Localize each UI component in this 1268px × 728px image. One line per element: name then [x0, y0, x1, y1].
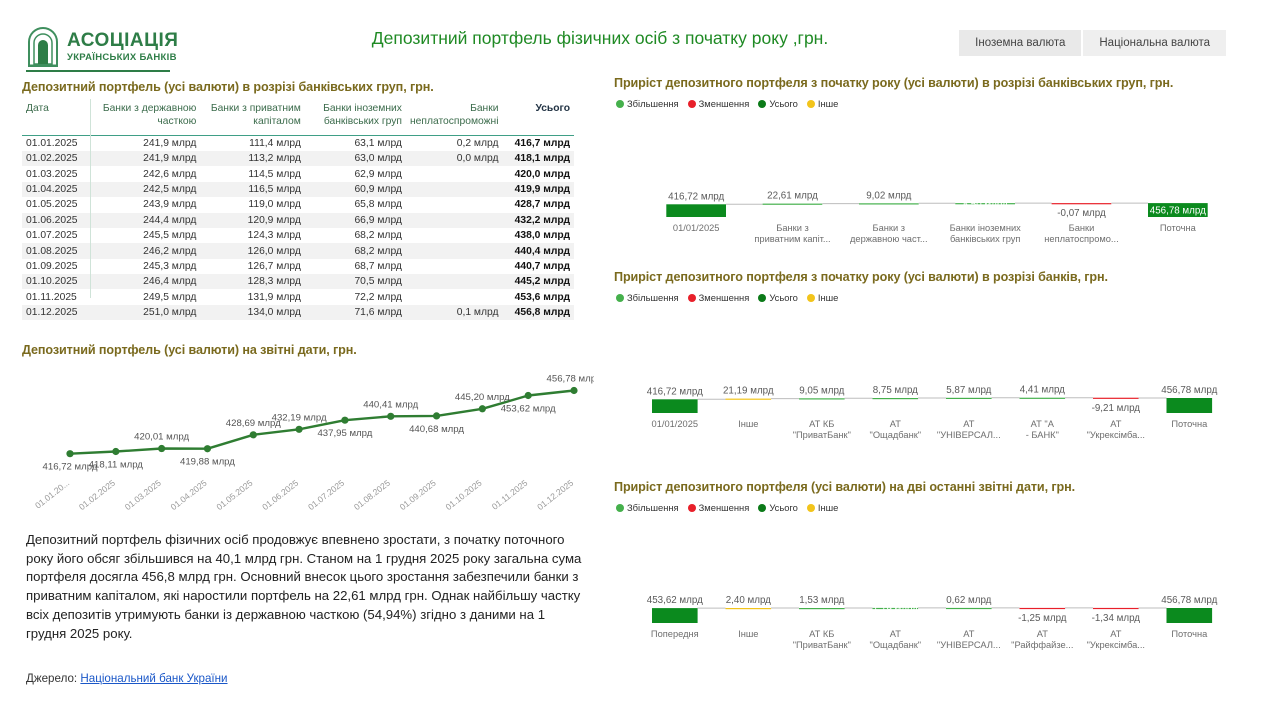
line-point [66, 450, 73, 457]
col-state: Банки з державною часткою [90, 101, 201, 135]
waterfall-bar [946, 608, 992, 609]
table-vertical-separator [90, 99, 91, 298]
waterfall-category-label: АТ [1037, 629, 1048, 639]
table-row: 01.03.2025242,6 млрд114,5 млрд62,9 млрд4… [22, 166, 574, 181]
table-row: 01.05.2025243,9 млрд119,0 млрд65,8 млрд4… [22, 197, 574, 212]
cell-foreign: 70,5 млрд [305, 274, 406, 289]
waterfall-category-label: Банки [1069, 223, 1095, 233]
cell-total: 453,6 млрд [503, 289, 575, 304]
cell-total: 432,2 млрд [503, 213, 575, 228]
cell-total: 428,7 млрд [503, 197, 575, 212]
waterfall-category-label: АТ [1110, 629, 1121, 639]
table-body: 01.01.2025241,9 млрд111,4 млрд63,1 млрд0… [22, 135, 574, 320]
legend-item-other: Інше [807, 98, 839, 109]
waterfall-groups-title: Приріст депозитного портфеля з початку р… [614, 76, 1173, 90]
cell-insolvent [406, 259, 503, 274]
line-x-tick: 01.05.2025 [214, 478, 254, 512]
legend-dot-increase [616, 504, 624, 512]
cell-date: 01.03.2025 [22, 166, 90, 181]
deposit-table: Дата Банки з державною часткою Банки з п… [22, 101, 574, 320]
waterfall-category-label: "ПриватБанк" [793, 640, 851, 650]
cell-state: 244,4 млрд [90, 213, 201, 228]
cell-total: 440,4 млрд [503, 243, 575, 258]
waterfall-category-label: державною част... [850, 234, 928, 244]
col-insolvent: Банки неплатоспроможні [406, 101, 503, 135]
legend-item-decrease: Зменшення [688, 292, 750, 303]
cell-insolvent [406, 289, 503, 304]
waterfall-category-label: "Укрексімба... [1087, 640, 1145, 650]
logo-line2: УКРАЇНСЬКИХ БАНКІВ [67, 53, 178, 63]
table-row: 01.01.2025241,9 млрд111,4 млрд63,1 млрд0… [22, 135, 574, 151]
line-point-label: 432,19 млрд [272, 412, 327, 423]
waterfall-category-label: АТ [963, 629, 974, 639]
legend-label-total: Усього [769, 292, 798, 303]
line-point [570, 387, 577, 394]
waterfall-bar-label: 22,61 млрд [767, 191, 818, 202]
waterfall-banks-ytd-panel: Приріст депозитного портфеля з початку р… [614, 270, 1244, 460]
waterfall-category-label: "Ощадбанк" [870, 640, 922, 650]
line-x-tick: 01.12.2025 [535, 478, 575, 512]
waterfall-bar [859, 203, 919, 204]
legend-item-other: Інше [807, 502, 839, 513]
button-foreign-currency[interactable]: Іноземна валюта [959, 30, 1081, 56]
cell-total: 420,0 млрд [503, 166, 575, 181]
cell-total: 445,2 млрд [503, 274, 575, 289]
cell-foreign: 65,8 млрд [305, 197, 406, 212]
legend-item-total: Усього [758, 98, 798, 109]
cell-insolvent [406, 166, 503, 181]
legend-item-increase: Збільшення [616, 98, 679, 109]
cell-private: 114,5 млрд [200, 166, 304, 181]
waterfall-bar [1093, 608, 1139, 609]
line-point-label: 453,62 млрд [501, 403, 556, 414]
waterfall-category-label: Банки з [873, 223, 906, 233]
cell-private: 134,0 млрд [200, 305, 304, 320]
cell-insolvent [406, 182, 503, 197]
waterfall-category-label: Поточна [1171, 419, 1208, 429]
table-row: 01.04.2025242,5 млрд116,5 млрд60,9 млрд4… [22, 182, 574, 197]
cell-state: 246,4 млрд [90, 274, 201, 289]
waterfall-bar-label: 8,50 млрд [963, 199, 1008, 210]
cell-total: 419,9 млрд [503, 182, 575, 197]
association-logo: АСОЦІАЦІЯ УКРАЇНСЬКИХ БАНКІВ [26, 26, 178, 68]
waterfall-category-label: АТ КБ [809, 629, 834, 639]
line-x-tick: 01.08.2025 [352, 478, 392, 512]
line-point [387, 413, 394, 420]
legend-label-decrease: Зменшення [699, 292, 750, 303]
cell-foreign: 62,9 млрд [305, 166, 406, 181]
table-row: 01.06.2025244,4 млрд120,9 млрд66,9 млрд4… [22, 213, 574, 228]
line-point [112, 448, 119, 455]
waterfall-category-label: Банки іноземних [950, 223, 1022, 233]
logo-underline [26, 70, 170, 72]
line-point-label: 440,41 млрд [363, 399, 418, 410]
waterfall-bar-label: 2,40 млрд [726, 595, 771, 606]
waterfall-category-label: Інше [738, 629, 758, 639]
cell-private: 116,5 млрд [200, 182, 304, 197]
waterfall-bar [1020, 608, 1066, 609]
line-x-tick: 01.11.2025 [490, 478, 530, 512]
legend-label-other: Інше [818, 502, 839, 513]
legend-label-increase: Збільшення [627, 98, 679, 109]
waterfall-bar [726, 399, 772, 400]
line-point [525, 392, 532, 399]
cell-insolvent [406, 243, 503, 258]
waterfall-bar-label: 1,19 млрд [873, 604, 918, 615]
waterfall-bar [1020, 398, 1066, 399]
waterfall-bar [652, 608, 698, 623]
cell-total: 438,0 млрд [503, 228, 575, 243]
line-point [433, 412, 440, 419]
waterfall-category-label: 01/01/2025 [673, 223, 720, 233]
legend-dot-decrease [688, 100, 696, 108]
currency-toggle[interactable]: Іноземна валюта Національна валюта [959, 30, 1226, 56]
source-line: Джерело: Національний банк України [26, 672, 228, 685]
legend-dot-total [758, 294, 766, 302]
waterfall-category-label: приватним капіт... [754, 234, 830, 244]
waterfall-bar [726, 608, 772, 609]
legend-dot-other [807, 294, 815, 302]
waterfall-category-label: "УНІВЕРСАЛ... [937, 430, 1001, 440]
legend-label-total: Усього [769, 98, 798, 109]
legend-dot-increase [616, 100, 624, 108]
table-row: 01.10.2025246,4 млрд128,3 млрд70,5 млрд4… [22, 274, 574, 289]
cell-state: 243,9 млрд [90, 197, 201, 212]
cell-foreign: 63,0 млрд [305, 151, 406, 166]
line-point-label: 440,68 млрд [409, 424, 464, 435]
cell-private: 124,3 млрд [200, 228, 304, 243]
line-point-label: 419,88 млрд [180, 457, 235, 468]
waterfall-category-label: "УНІВЕРСАЛ... [937, 640, 1001, 650]
line-point [204, 445, 211, 452]
line-point-label: 418,11 млрд [89, 460, 144, 471]
waterfall-category-label: - БАНК" [1026, 430, 1059, 440]
cell-date: 01.05.2025 [22, 197, 90, 212]
waterfall-bar-label: 9,02 млрд [866, 190, 911, 201]
waterfall-bar-label: 456,78 млрд [1161, 385, 1217, 396]
waterfall-category-label: АТ [1110, 419, 1121, 429]
waterfall-bar-label: -1,25 млрд [1018, 613, 1067, 624]
line-x-tick: 01.03.2025 [123, 478, 163, 512]
cell-state: 246,2 млрд [90, 243, 201, 258]
cell-total: 440,7 млрд [503, 259, 575, 274]
table-row: 01.11.2025249,5 млрд131,9 млрд72,2 млрд4… [22, 289, 574, 304]
waterfall-banks-mom-panel: Приріст депозитного портфеля (усі валюти… [614, 480, 1244, 670]
legend-dot-increase [616, 294, 624, 302]
line-point-label: 456,78 млрд [547, 374, 594, 385]
line-chart-panel: Депозитний портфель (усі валюти) на звіт… [22, 343, 594, 518]
legend-item-decrease: Зменшення [688, 98, 750, 109]
legend-item-total: Усього [758, 502, 798, 513]
cell-state: 242,6 млрд [90, 166, 201, 181]
cell-insolvent: 0,1 млрд [406, 305, 503, 320]
waterfall-category-label: Попередня [651, 629, 699, 639]
line-x-tick: 01.07.2025 [306, 478, 346, 512]
legend-banks-ytd: Збільшення Зменшення Усього Інше [616, 292, 838, 303]
cell-state: 251,0 млрд [90, 305, 201, 320]
waterfall-bar [1167, 608, 1213, 623]
waterfall-category-label: неплатоспромо... [1044, 234, 1118, 244]
waterfall-category-label: Поточна [1160, 223, 1197, 233]
legend-label-decrease: Зменшення [699, 502, 750, 513]
cell-date: 01.06.2025 [22, 213, 90, 228]
page-title: Депозитний портфель фізичних осіб з поча… [330, 28, 870, 49]
legend-item-increase: Збільшення [616, 292, 679, 303]
cell-insolvent: 0,2 млрд [406, 135, 503, 151]
waterfall-groups-chart: 416,72 млрд01/01/202522,61 млрдБанки зпр… [614, 116, 1244, 251]
waterfall-bar [799, 398, 845, 399]
waterfall-category-label: АТ [890, 419, 901, 429]
waterfall-bar-label: 456,78 млрд [1150, 206, 1206, 217]
cell-date: 01.12.2025 [22, 305, 90, 320]
line-point [479, 405, 486, 412]
legend-item-total: Усього [758, 292, 798, 303]
waterfall-bar [666, 204, 726, 217]
waterfall-bar-label: 21,19 млрд [723, 386, 774, 397]
waterfall-bar-label: 456,78 млрд [1161, 595, 1217, 606]
waterfall-category-label: Поточна [1171, 629, 1208, 639]
legend-label-increase: Збільшення [627, 292, 679, 303]
waterfall-bar [1093, 398, 1139, 399]
waterfall-category-label: АТ "А [1031, 419, 1055, 429]
waterfall-bar-label: -0,07 млрд [1057, 208, 1106, 219]
waterfall-category-label: "Ощадбанк" [870, 430, 922, 440]
col-foreign: Банки іноземних банківських груп [305, 101, 406, 135]
waterfall-category-label: Банки з [776, 223, 809, 233]
waterfall-category-label: "Райффайзе... [1011, 640, 1073, 650]
cell-date: 01.02.2025 [22, 151, 90, 166]
cell-date: 01.04.2025 [22, 182, 90, 197]
waterfall-bar-label: 5,87 млрд [946, 385, 991, 396]
line-point-label: 420,01 млрд [134, 432, 189, 443]
dashboard-page: АСОЦІАЦІЯ УКРАЇНСЬКИХ БАНКІВ Депозитний … [0, 0, 1268, 728]
cell-foreign: 63,1 млрд [305, 135, 406, 151]
legend-dot-decrease [688, 294, 696, 302]
waterfall-bar [799, 608, 845, 609]
waterfall-bar-label: 4,41 млрд [1020, 385, 1065, 396]
waterfall-banks-ytd-title: Приріст депозитного портфеля з початку р… [614, 270, 1108, 284]
waterfall-category-label: 01/01/2025 [652, 419, 699, 429]
line-x-tick: 01.10.2025 [444, 478, 484, 512]
waterfall-category-label: АТ [963, 419, 974, 429]
legend-label-increase: Збільшення [627, 502, 679, 513]
col-total: Усього [503, 101, 575, 135]
cell-insolvent [406, 228, 503, 243]
cell-state: 249,5 млрд [90, 289, 201, 304]
waterfall-bar [1052, 203, 1112, 204]
source-link[interactable]: Національний банк України [80, 672, 227, 685]
waterfall-banks-mom-chart: 453,62 млрдПопередня2,40 млрдІнше1,53 мл… [614, 520, 1244, 665]
cell-state: 245,5 млрд [90, 228, 201, 243]
cell-date: 01.09.2025 [22, 259, 90, 274]
waterfall-groups-panel: Приріст депозитного портфеля з початку р… [614, 76, 1244, 256]
waterfall-bar [946, 398, 992, 399]
waterfall-bar-label: -9,21 млрд [1092, 403, 1141, 414]
waterfall-banks-mom-title: Приріст депозитного портфеля (усі валюти… [614, 480, 1075, 494]
legend-dot-total [758, 100, 766, 108]
cell-private: 126,7 млрд [200, 259, 304, 274]
waterfall-bar [763, 204, 823, 205]
line-x-tick: 01.04.2025 [169, 478, 209, 512]
line-x-tick: 01.09.2025 [398, 478, 438, 512]
waterfall-banks-ytd-chart: 416,72 млрд01/01/202521,19 млрдІнше9,05 … [614, 310, 1244, 455]
cell-state: 241,9 млрд [90, 135, 201, 151]
source-label: Джерело: [26, 672, 77, 685]
cell-total: 416,7 млрд [503, 135, 575, 151]
line-x-tick: 01.01.20... [33, 478, 71, 511]
cell-total: 456,8 млрд [503, 305, 575, 320]
cell-foreign: 66,9 млрд [305, 213, 406, 228]
waterfall-bar [1167, 398, 1213, 413]
cell-foreign: 68,7 млрд [305, 259, 406, 274]
cell-foreign: 72,2 млрд [305, 289, 406, 304]
waterfall-bar-label: 416,72 млрд [668, 191, 724, 202]
cell-state: 245,3 млрд [90, 259, 201, 274]
cell-private: 131,9 млрд [200, 289, 304, 304]
legend-dot-total [758, 504, 766, 512]
legend-item-decrease: Зменшення [688, 502, 750, 513]
deposit-table-panel: Депозитний портфель (усі валюти) в розрі… [22, 80, 574, 320]
legend-label-total: Усього [769, 502, 798, 513]
arch-gate-icon [26, 26, 60, 68]
legend-item-other: Інше [807, 292, 839, 303]
legend-label-other: Інше [818, 292, 839, 303]
waterfall-bar-label: -1,34 млрд [1092, 613, 1141, 624]
cell-insolvent [406, 274, 503, 289]
line-point-label: 445,20 млрд [455, 392, 510, 403]
table-row: 01.09.2025245,3 млрд126,7 млрд68,7 млрд4… [22, 259, 574, 274]
waterfall-category-label: АТ КБ [809, 419, 834, 429]
cell-date: 01.11.2025 [22, 289, 90, 304]
waterfall-category-label: АТ [890, 629, 901, 639]
cell-total: 418,1 млрд [503, 151, 575, 166]
cell-state: 242,5 млрд [90, 182, 201, 197]
cell-insolvent: 0,0 млрд [406, 151, 503, 166]
line-point [250, 431, 257, 438]
waterfall-bar-label: 1,53 млрд [799, 595, 844, 606]
table-row: 01.07.2025245,5 млрд124,3 млрд68,2 млрд4… [22, 228, 574, 243]
cell-state: 241,9 млрд [90, 151, 201, 166]
cell-date: 01.07.2025 [22, 228, 90, 243]
waterfall-bar-label: 9,05 млрд [799, 385, 844, 396]
line-x-tick: 01.02.2025 [77, 478, 117, 512]
legend-label-decrease: Зменшення [699, 98, 750, 109]
line-point [295, 426, 302, 433]
waterfall-category-label: Інше [738, 419, 758, 429]
waterfall-bar-label: 453,62 млрд [647, 595, 703, 606]
cell-foreign: 71,6 млрд [305, 305, 406, 320]
col-private: Банки з приватним капіталом [200, 101, 304, 135]
line-point [341, 417, 348, 424]
cell-date: 01.10.2025 [22, 274, 90, 289]
table-header-row: Дата Банки з державною часткою Банки з п… [22, 101, 574, 135]
legend-dot-decrease [688, 504, 696, 512]
legend-dot-other [807, 100, 815, 108]
cell-foreign: 60,9 млрд [305, 182, 406, 197]
waterfall-category-label: "ПриватБанк" [793, 430, 851, 440]
waterfall-category-label: банківських груп [950, 234, 1021, 244]
narrative-text: Депозитний портфель фізичних осіб продов… [26, 531, 582, 643]
cell-insolvent [406, 213, 503, 228]
waterfall-bar-label: 8,75 млрд [873, 385, 918, 396]
line-x-tick: 01.06.2025 [260, 478, 300, 512]
cell-private: 120,9 млрд [200, 213, 304, 228]
logo-line1: АСОЦІАЦІЯ [67, 31, 178, 50]
cell-date: 01.08.2025 [22, 243, 90, 258]
legend-label-other: Інше [818, 98, 839, 109]
waterfall-bar-label: 0,62 млрд [946, 595, 991, 606]
legend-banks-mom: Збільшення Зменшення Усього Інше [616, 502, 838, 513]
cell-private: 113,2 млрд [200, 151, 304, 166]
table-row: 01.08.2025246,2 млрд126,0 млрд68,2 млрд4… [22, 243, 574, 258]
line-point-label: 437,95 млрд [317, 428, 372, 439]
line-point [158, 445, 165, 452]
waterfall-bar [652, 399, 698, 413]
legend-dot-other [807, 504, 815, 512]
waterfall-bar-label: 416,72 млрд [647, 386, 703, 397]
button-national-currency[interactable]: Національна валюта [1083, 30, 1226, 56]
line-chart-title: Депозитний портфель (усі валюти) на звіт… [22, 343, 357, 357]
table-row: 01.02.2025241,9 млрд113,2 млрд63,0 млрд0… [22, 151, 574, 166]
cell-private: 111,4 млрд [200, 135, 304, 151]
waterfall-bar [873, 398, 919, 399]
legend-item-increase: Збільшення [616, 502, 679, 513]
waterfall-category-label: "Укрексімба... [1087, 430, 1145, 440]
cell-foreign: 68,2 млрд [305, 243, 406, 258]
cell-date: 01.01.2025 [22, 135, 90, 151]
col-date: Дата [22, 101, 90, 135]
legend-groups: Збільшення Зменшення Усього Інше [616, 98, 838, 109]
line-chart: 416,72 млрд418,11 млрд420,01 млрд419,88 … [22, 361, 594, 516]
cell-foreign: 68,2 млрд [305, 228, 406, 243]
table-row: 01.12.2025251,0 млрд134,0 млрд71,6 млрд0… [22, 305, 574, 320]
cell-insolvent [406, 197, 503, 212]
cell-private: 128,3 млрд [200, 274, 304, 289]
deposit-table-title: Депозитний портфель (усі валюти) в розрі… [22, 80, 574, 94]
cell-private: 119,0 млрд [200, 197, 304, 212]
cell-private: 126,0 млрд [200, 243, 304, 258]
